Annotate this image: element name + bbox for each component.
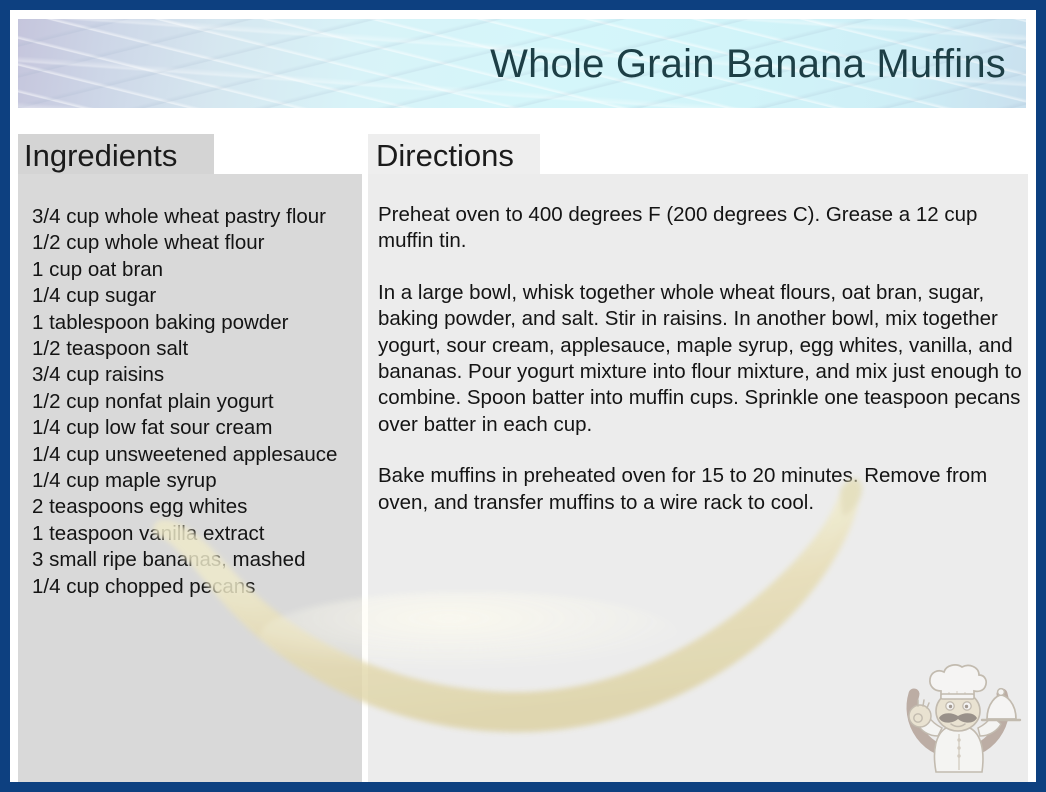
ingredient-item: 1 teaspoon vanilla extract [32,521,356,547]
direction-paragraph: In a large bowl, whisk together whole wh… [378,280,1026,438]
direction-paragraph: Bake muffins in preheated oven for 15 to… [378,463,1026,516]
ingredients-panel: 3/4 cup whole wheat pastry flour1/2 cup … [18,174,362,782]
ingredient-item: 1 cup oat bran [32,257,356,283]
directions-heading: Directions [376,137,514,175]
ingredient-item: 1 tablespoon baking powder [32,310,356,336]
ingredient-item: 1/4 cup low fat sour cream [32,415,356,441]
ingredients-heading: Ingredients [24,137,177,175]
ingredient-item: 3 small ripe bananas, mashed [32,547,356,573]
page-title: Whole Grain Banana Muffins [490,43,1006,85]
title-banner: Whole Grain Banana Muffins [18,19,1026,108]
ingredient-item: 1/4 cup maple syrup [32,468,356,494]
ingredient-item: 3/4 cup whole wheat pastry flour [32,204,356,230]
ingredient-item: 2 teaspoons egg whites [32,494,356,520]
direction-paragraph: Preheat oven to 400 degrees F (200 degre… [378,202,1026,255]
ingredient-item: 1/2 cup nonfat plain yogurt [32,389,356,415]
recipe-card: Whole Grain Banana Muffins Ingredients D… [0,0,1046,792]
ingredient-item: 1/2 teaspoon salt [32,336,356,362]
ingredient-item: 1/4 cup sugar [32,283,356,309]
directions-body: Preheat oven to 400 degrees F (200 degre… [378,202,1026,516]
ingredient-item: 1/2 cup whole wheat flour [32,230,356,256]
ingredient-item: 1/4 cup unsweetened applesauce [32,442,356,468]
ingredient-item: 3/4 cup raisins [32,362,356,388]
ingredient-item: 1/4 cup chopped pecans [32,574,356,600]
ingredients-list: 3/4 cup whole wheat pastry flour1/2 cup … [32,204,356,600]
directions-panel: Preheat oven to 400 degrees F (200 degre… [368,174,1028,782]
